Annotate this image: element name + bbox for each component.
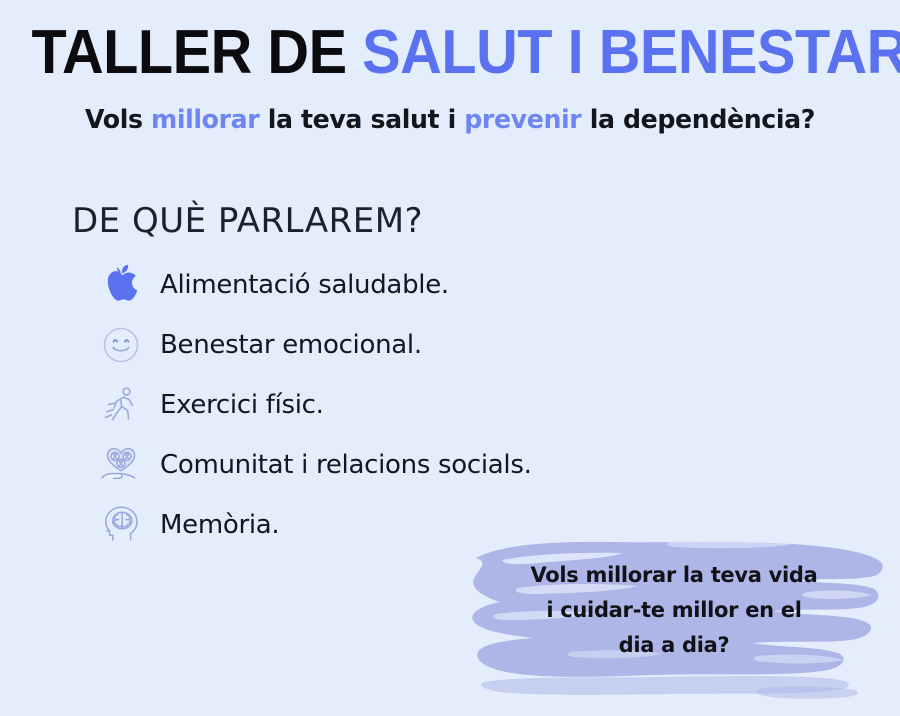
topic-list: Alimentació saludable. Benestar emociona… <box>96 262 796 562</box>
subtitle-segment-3: la teva salut i <box>259 105 464 135</box>
list-item: Alimentació saludable. <box>96 262 796 308</box>
topic-label: Benestar emocional. <box>160 330 422 360</box>
title-word-1: TALLER <box>32 21 252 85</box>
poster-title: TALLER DE SALUT I BENESTAR <box>32 21 869 85</box>
hand-heart-people-icon <box>96 442 146 488</box>
poster-canvas: TALLER DE SALUT I BENESTAR Vols millorar… <box>0 0 900 716</box>
callout-line-2: i cuidar-te millor en el <box>462 593 886 628</box>
title-word-2: DE <box>267 21 346 85</box>
smiley-face-icon <box>96 322 146 368</box>
section-heading: DE QUÈ PARLAREM? <box>72 200 423 242</box>
subtitle-segment-4: prevenir <box>464 105 581 135</box>
poster-subtitle: Vols millorar la teva salut i prevenir l… <box>14 104 887 136</box>
callout-line-3: dia a dia? <box>462 628 886 663</box>
callout-line-1: Vols millorar la teva vida <box>462 558 886 593</box>
subtitle-segment-2: millorar <box>151 105 259 135</box>
callout-text: Vols millorar la teva vida i cuidar-te m… <box>462 558 886 663</box>
title-word-5: BENESTAR <box>599 21 900 85</box>
list-item: Benestar emocional. <box>96 322 796 368</box>
list-item: Exercici físic. <box>96 382 796 428</box>
topic-label: Comunitat i relacions socials. <box>160 450 532 480</box>
brush-callout: Vols millorar la teva vida i cuidar-te m… <box>462 536 886 704</box>
apple-icon <box>96 262 146 308</box>
topic-label: Exercici físic. <box>160 390 324 420</box>
title-word-3: SALUT <box>362 21 552 85</box>
subtitle-segment-1: Vols <box>85 105 151 135</box>
topic-label: Memòria. <box>160 510 279 540</box>
topic-label: Alimentació saludable. <box>160 270 449 300</box>
head-brain-icon <box>96 502 146 548</box>
subtitle-segment-5: la dependència? <box>581 105 815 135</box>
title-word-4: I <box>568 21 584 85</box>
list-item: Comunitat i relacions socials. <box>96 442 796 488</box>
running-person-icon <box>96 382 146 428</box>
